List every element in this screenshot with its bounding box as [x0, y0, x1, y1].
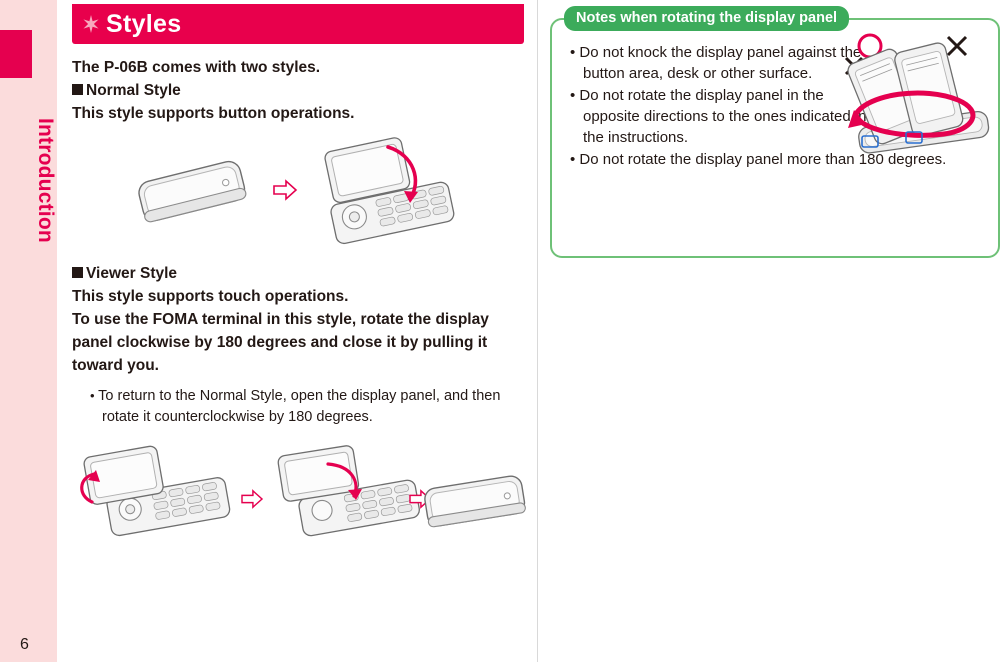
closed-phone-icon: [132, 157, 252, 227]
figure-viewer-style: [72, 444, 524, 544]
viewer-style-desc: This style supports touch operations.: [72, 285, 524, 308]
viewer-style-bullet: • To return to the Normal Style, open th…: [90, 385, 532, 428]
viewer-style-heading-label: Viewer Style: [86, 265, 177, 282]
section-title-bar: Styles: [72, 4, 524, 44]
open-phone-icon: [292, 137, 472, 247]
viewer-style-heading: Viewer Style: [72, 262, 524, 285]
bullet-dot-icon-n2: •: [570, 87, 579, 104]
sidebar-section-label: Introduction: [0, 78, 57, 278]
intro-text: The P-06B comes with two styles.: [72, 56, 524, 79]
normal-style-desc: This style supports button operations.: [72, 102, 524, 125]
phone-step3-closed-icon: [420, 468, 530, 538]
sparkle-icon: [80, 13, 106, 35]
square-bullet-icon-2: [72, 267, 83, 278]
arrow-right-icon-2: [240, 489, 264, 509]
phone-step1-icon: [72, 444, 247, 544]
sidebar: Introduction 6: [0, 0, 57, 662]
note-box: Notes when rotating the display panel • …: [550, 18, 1000, 258]
bullet-dot-icon: •: [90, 388, 98, 403]
column-divider: [537, 0, 538, 662]
viewer-style-bullet-text: To return to the Normal Style, open the …: [98, 388, 500, 425]
normal-style-heading: Normal Style: [72, 79, 524, 102]
normal-style-heading-label: Normal Style: [86, 82, 181, 99]
rotating-display-panel-illustration: [798, 28, 998, 168]
left-column: Styles The P-06B comes with two styles. …: [72, 0, 524, 544]
bullet-dot-icon-n3: •: [570, 151, 579, 168]
square-bullet-icon: [72, 84, 83, 95]
cross-mark-icon-right: [948, 37, 966, 55]
bullet-dot-icon-n1: •: [570, 44, 579, 61]
viewer-style-instruction: To use the FOMA terminal in this style, …: [72, 308, 524, 377]
page-number: 6: [20, 636, 29, 654]
page-title: Styles: [106, 10, 181, 39]
figure-normal-style: [72, 139, 524, 244]
sidebar-tab-marker: [0, 30, 32, 78]
